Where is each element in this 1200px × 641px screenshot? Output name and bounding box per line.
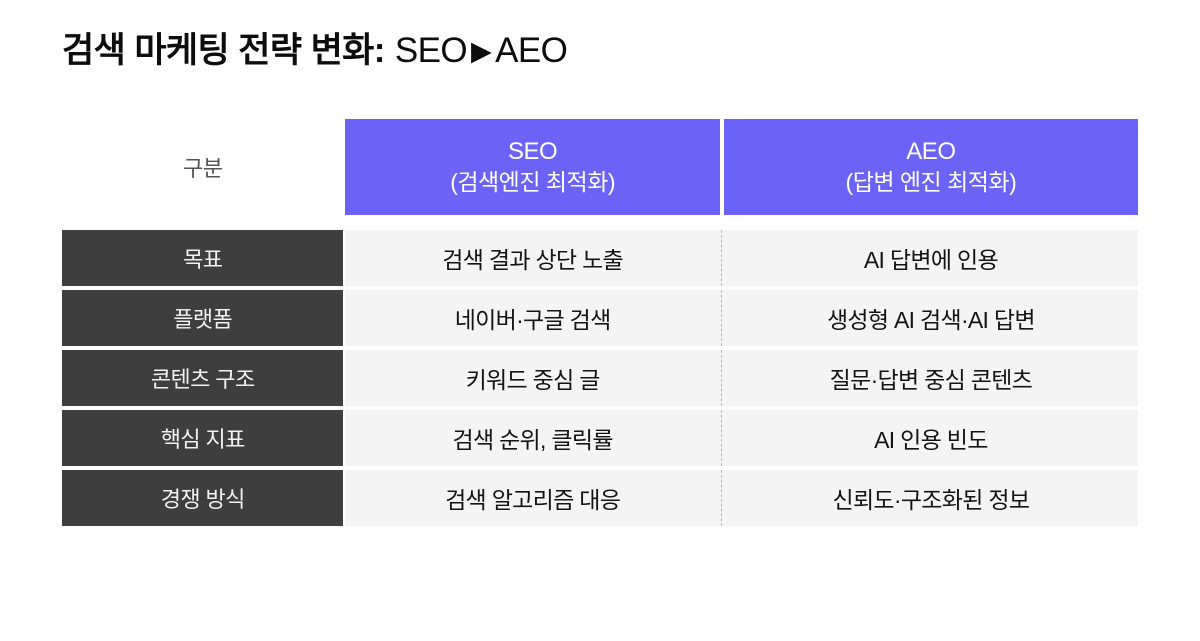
cell-aeo-text: AI 인용 빈도 — [874, 421, 988, 455]
row-header-label-text: 구분 — [183, 151, 222, 183]
cell-seo: 검색 순위, 클릭률 — [345, 410, 719, 466]
column-divider-dashed — [720, 410, 724, 466]
row-label: 목표 — [62, 230, 343, 286]
row-label-text: 콘텐츠 구조 — [151, 362, 255, 394]
cell-aeo: 생성형 AI 검색·AI 답변 — [724, 290, 1138, 346]
cell-seo: 검색 결과 상단 노출 — [345, 230, 719, 286]
row-label: 경쟁 방식 — [62, 470, 343, 526]
cell-aeo: 질문·답변 중심 콘텐츠 — [724, 350, 1138, 406]
table-row: 플랫폼 네이버·구글 검색 생성형 AI 검색·AI 답변 — [62, 290, 1138, 346]
cell-seo-text: 네이버·구글 검색 — [455, 301, 611, 335]
row-label-text: 핵심 지표 — [161, 422, 245, 454]
cell-seo-text: 검색 결과 상단 노출 — [442, 241, 623, 275]
row-label: 콘텐츠 구조 — [62, 350, 343, 406]
row-label-text: 목표 — [183, 242, 222, 274]
table-row: 목표 검색 결과 상단 노출 AI 답변에 인용 — [62, 230, 1138, 286]
cell-seo: 키워드 중심 글 — [345, 350, 719, 406]
cell-seo: 검색 알고리즘 대응 — [345, 470, 719, 526]
cell-aeo-text: 질문·답변 중심 콘텐츠 — [830, 361, 1032, 395]
comparison-table: 구분 SEO (검색엔진 최적화) AEO (답변 엔진 최적화) 목표 — [62, 119, 1138, 526]
table-body: 목표 검색 결과 상단 노출 AI 답변에 인용 플랫폼 네이버·구글 검색 — [62, 230, 1138, 526]
column-header-aeo-subtitle: (답변 엔진 최적화) — [846, 168, 1017, 197]
page-title-to: AEO — [495, 31, 567, 70]
table-row: 콘텐츠 구조 키워드 중심 글 질문·답변 중심 콘텐츠 — [62, 350, 1138, 406]
row-label-text: 플랫폼 — [173, 302, 232, 334]
cell-aeo: AI 인용 빈도 — [724, 410, 1138, 466]
cell-seo-text: 검색 알고리즘 대응 — [445, 481, 620, 515]
cell-aeo-text: AI 답변에 인용 — [864, 241, 998, 275]
page-title-korean: 검색 마케팅 전략 변화: — [62, 31, 385, 70]
column-header-seo: SEO (검색엔진 최적화) — [345, 119, 719, 215]
column-header-seo-subtitle: (검색엔진 최적화) — [450, 168, 615, 197]
column-divider-dashed — [720, 350, 724, 406]
triangle-right-icon: ▶ — [467, 36, 495, 66]
cell-seo: 네이버·구글 검색 — [345, 290, 719, 346]
page-title-text: 검색 마케팅 전략 변화:SEO▶AEO — [62, 29, 567, 75]
column-header-aeo: AEO (답변 엔진 최적화) — [724, 119, 1138, 215]
row-label: 플랫폼 — [62, 290, 343, 346]
table-row: 핵심 지표 검색 순위, 클릭률 AI 인용 빈도 — [62, 410, 1138, 466]
row-label-text: 경쟁 방식 — [161, 482, 245, 514]
cell-aeo-text: 신뢰도·구조화된 정보 — [833, 481, 1030, 515]
infographic-table-page: 검색 마케팅 전략 변화:SEO▶AEO 구분 SEO (검색엔진 최적화) A… — [0, 0, 1200, 641]
column-divider-dashed — [720, 230, 724, 286]
column-header-aeo-title: AEO — [906, 137, 955, 167]
table-header-row: 구분 SEO (검색엔진 최적화) AEO (답변 엔진 최적화) — [62, 119, 1138, 215]
cell-aeo: AI 답변에 인용 — [724, 230, 1138, 286]
column-divider-dashed — [720, 470, 724, 526]
cell-seo-text: 키워드 중심 글 — [466, 361, 600, 395]
cell-aeo: 신뢰도·구조화된 정보 — [724, 470, 1138, 526]
column-divider-dashed — [720, 290, 724, 346]
row-label: 핵심 지표 — [62, 410, 343, 466]
row-header-label: 구분 — [62, 119, 343, 215]
table-row: 경쟁 방식 검색 알고리즘 대응 신뢰도·구조화된 정보 — [62, 470, 1138, 526]
page-title-from: SEO — [385, 31, 467, 70]
cell-aeo-text: 생성형 AI 검색·AI 답변 — [827, 301, 1035, 335]
page-title: 검색 마케팅 전략 변화:SEO▶AEO — [62, 26, 1142, 78]
cell-seo-text: 검색 순위, 클릭률 — [452, 421, 612, 455]
column-header-seo-title: SEO — [508, 137, 557, 167]
